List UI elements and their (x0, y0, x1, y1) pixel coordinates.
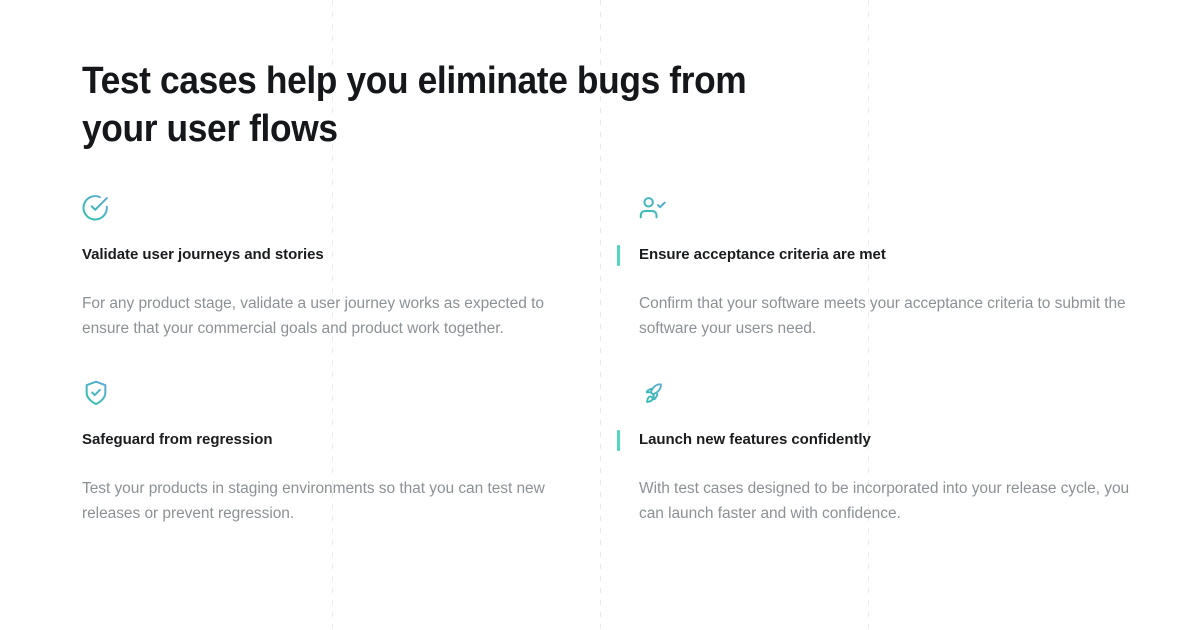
feature-heading-text: Launch new features confidently (639, 431, 871, 448)
content-container: Test cases help you eliminate bugs from … (0, 0, 1200, 526)
user-check-icon (639, 194, 667, 222)
accent-bar (617, 430, 620, 451)
feature-heading: Launch new features confidently (639, 429, 1132, 451)
feature-card-safeguard-regression: Safeguard from regression Test your prod… (82, 379, 619, 526)
rocket-icon (639, 379, 667, 407)
feature-heading: Ensure acceptance criteria are met (639, 244, 1132, 266)
feature-grid: Validate user journeys and stories For a… (82, 194, 1132, 526)
feature-body: For any product stage, validate a user j… (82, 291, 582, 341)
feature-card-acceptance-criteria: Ensure acceptance criteria are met Confi… (619, 194, 1132, 341)
feature-heading: Validate user journeys and stories (82, 244, 619, 266)
feature-heading-text: Ensure acceptance criteria are met (639, 246, 886, 263)
accent-bar (617, 245, 620, 266)
feature-heading-text: Safeguard from regression (82, 431, 272, 448)
feature-heading-text: Validate user journeys and stories (82, 246, 324, 263)
shield-check-icon (82, 379, 110, 407)
page-root: Test cases help you eliminate bugs from … (0, 0, 1200, 630)
feature-heading: Safeguard from regression (82, 429, 619, 451)
feature-body: Test your products in staging environmen… (82, 476, 582, 526)
feature-body: With test cases designed to be incorpora… (639, 476, 1132, 526)
page-title: Test cases help you eliminate bugs from … (82, 57, 817, 153)
circle-check-icon (82, 194, 110, 222)
feature-body: Confirm that your software meets your ac… (639, 291, 1132, 341)
feature-card-launch-features: Launch new features confidently With tes… (619, 379, 1132, 526)
feature-card-validate-user-journeys: Validate user journeys and stories For a… (82, 194, 619, 341)
